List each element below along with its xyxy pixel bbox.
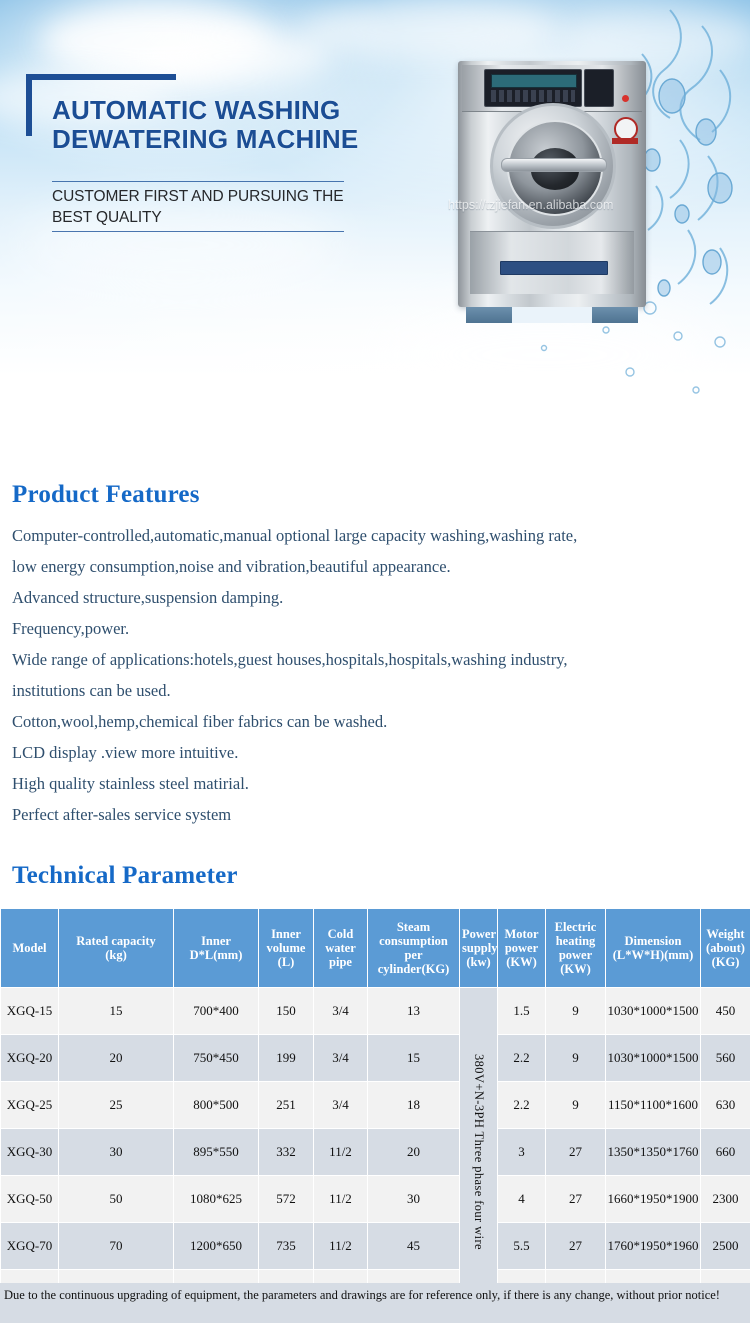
- cell-inner-dl: 1080*625: [174, 1176, 259, 1223]
- cell-inner-volume: 251: [259, 1082, 314, 1129]
- feature-line: LCD display .view more intuitive.: [12, 737, 712, 768]
- cell-dimension: 1760*1950*1960: [606, 1223, 701, 1270]
- cell-weight: 2500: [701, 1223, 750, 1270]
- cell-weight: 660: [701, 1129, 750, 1176]
- product-features-list: Computer-controlled,automatic,manual opt…: [12, 520, 712, 830]
- machine-brand-badge-text: [612, 138, 638, 144]
- cell-weight: 450: [701, 988, 750, 1035]
- cell-motor-power: 2.2: [498, 1082, 546, 1129]
- technical-parameter-table-wrapper: ModelRated capacity (kg)Inner D*L(mm)Inn…: [0, 908, 750, 1317]
- corner-bracket-extension: [98, 74, 176, 80]
- cloud-shape: [300, 0, 560, 60]
- cell-motor-power: 5.5: [498, 1223, 546, 1270]
- cell-dimension: 1350*1350*1760: [606, 1129, 701, 1176]
- hero-banner: AUTOMATIC WASHING DEWATERING MACHINE CUS…: [0, 0, 750, 470]
- cell-steam-consumption: 30: [368, 1176, 460, 1223]
- cell-steam-consumption: 13: [368, 988, 460, 1035]
- feature-line: Wide range of applications:hotels,guest …: [12, 644, 712, 675]
- table-column-header: Cold water pipe: [314, 909, 368, 988]
- cell-dimension: 1660*1950*1900: [606, 1176, 701, 1223]
- cell-inner-dl: 1200*650: [174, 1223, 259, 1270]
- cell-cold-water-pipe: 11/2: [314, 1223, 368, 1270]
- cloud-shape: [150, 30, 330, 82]
- machine-nameplate: [500, 261, 608, 275]
- cell-model: XGQ-15: [1, 988, 59, 1035]
- cell-weight: 2300: [701, 1176, 750, 1223]
- cell-cold-water-pipe: 3/4: [314, 988, 368, 1035]
- table-disclaimer-note: Due to the continuous upgrading of equip…: [0, 1283, 750, 1323]
- banner-subtitle: CUSTOMER FIRST AND PURSUING THE BEST QUA…: [52, 186, 372, 228]
- cell-weight: 560: [701, 1035, 750, 1082]
- cell-steam-consumption: 20: [368, 1129, 460, 1176]
- product-features-heading: Product Features: [12, 481, 200, 509]
- cell-electric-heating-power: 27: [546, 1223, 606, 1270]
- cell-cold-water-pipe: 3/4: [314, 1035, 368, 1082]
- table-row: XGQ-70701200*65073511/2455.5271760*1950*…: [1, 1223, 750, 1270]
- cell-electric-heating-power: 9: [546, 1035, 606, 1082]
- machine-keypad: [491, 90, 575, 102]
- table-column-header: Motor power (KW): [498, 909, 546, 988]
- table-column-header: Rated capacity (kg): [59, 909, 174, 988]
- table-row: XGQ-3030895*55033211/2203271350*1350*176…: [1, 1129, 750, 1176]
- machine-side-panel: [584, 69, 614, 107]
- cell-model: XGQ-20: [1, 1035, 59, 1082]
- banner-divider-top: [52, 181, 344, 182]
- image-watermark: https://tzjiefan.en.alibaba.com: [448, 198, 718, 212]
- table-column-header: Steam consumption per cylinder(KG): [368, 909, 460, 988]
- feature-line: Advanced structure,suspension damping.: [12, 582, 712, 613]
- cell-electric-heating-power: 9: [546, 988, 606, 1035]
- cell-model: XGQ-25: [1, 1082, 59, 1129]
- feature-line: low energy consumption,noise and vibrati…: [12, 551, 712, 582]
- washing-machine-product-image: [452, 55, 652, 330]
- table-row: XGQ-2525800*5002513/4182.291150*1100*160…: [1, 1082, 750, 1129]
- cell-inner-volume: 199: [259, 1035, 314, 1082]
- feature-line: Computer-controlled,automatic,manual opt…: [12, 520, 712, 551]
- cell-rated-capacity: 20: [59, 1035, 174, 1082]
- cell-motor-power: 4: [498, 1176, 546, 1223]
- cell-dimension: 1150*1100*1600: [606, 1082, 701, 1129]
- feature-line: Cotton,wool,hemp,chemical fiber fabrics …: [12, 706, 712, 737]
- feature-line: institutions can be used.: [12, 675, 712, 706]
- cell-rated-capacity: 70: [59, 1223, 174, 1270]
- machine-lcd-screen: [491, 74, 577, 88]
- cell-electric-heating-power: 9: [546, 1082, 606, 1129]
- table-row: XGQ-1515700*4001503/413380V+N-3PH Three …: [1, 988, 750, 1035]
- table-column-header: Weight (about) (KG): [701, 909, 750, 988]
- cell-motor-power: 1.5: [498, 988, 546, 1035]
- cell-steam-consumption: 15: [368, 1035, 460, 1082]
- feature-line: Perfect after-sales service system: [12, 799, 712, 830]
- table-row: XGQ-50501080*62557211/2304271660*1950*19…: [1, 1176, 750, 1223]
- cell-motor-power: 2.2: [498, 1035, 546, 1082]
- banner-divider-bottom: [52, 231, 344, 232]
- table-column-header: Model: [1, 909, 59, 988]
- cell-steam-consumption: 45: [368, 1223, 460, 1270]
- cell-dimension: 1030*1000*1500: [606, 1035, 701, 1082]
- cell-inner-volume: 150: [259, 988, 314, 1035]
- cell-inner-volume: 735: [259, 1223, 314, 1270]
- cell-inner-volume: 572: [259, 1176, 314, 1223]
- machine-base-gap: [512, 307, 592, 323]
- cell-rated-capacity: 30: [59, 1129, 174, 1176]
- cell-dimension: 1030*1000*1500: [606, 988, 701, 1035]
- table-body: XGQ-1515700*4001503/413380V+N-3PH Three …: [1, 988, 750, 1317]
- banner-title: AUTOMATIC WASHING DEWATERING MACHINE: [52, 96, 472, 154]
- feature-line: High quality stainless steel matirial.: [12, 768, 712, 799]
- cell-inner-dl: 750*450: [174, 1035, 259, 1082]
- cell-cold-water-pipe: 3/4: [314, 1082, 368, 1129]
- table-header-row: ModelRated capacity (kg)Inner D*L(mm)Inn…: [1, 909, 750, 988]
- table-column-header: Dimension (L*W*H)(mm): [606, 909, 701, 988]
- machine-control-panel: [484, 69, 582, 107]
- cell-inner-dl: 800*500: [174, 1082, 259, 1129]
- feature-line: Frequency,power.: [12, 613, 712, 644]
- table-column-header: Power supply (kw): [460, 909, 498, 988]
- cell-weight: 630: [701, 1082, 750, 1129]
- cell-model: XGQ-70: [1, 1223, 59, 1270]
- machine-power-led: [622, 95, 629, 102]
- cell-steam-consumption: 18: [368, 1082, 460, 1129]
- table-column-header: Electric heating power (KW): [546, 909, 606, 988]
- technical-parameter-heading: Technical Parameter: [12, 862, 238, 890]
- technical-parameter-table: ModelRated capacity (kg)Inner D*L(mm)Inn…: [0, 908, 750, 1317]
- power-supply-rotated-text: 380V+N-3PH Three phase four wire: [471, 1054, 486, 1250]
- cell-inner-dl: 895*550: [174, 1129, 259, 1176]
- cell-cold-water-pipe: 11/2: [314, 1129, 368, 1176]
- table-column-header: Inner volume (L): [259, 909, 314, 988]
- cell-rated-capacity: 25: [59, 1082, 174, 1129]
- cell-electric-heating-power: 27: [546, 1129, 606, 1176]
- machine-door-handle: [501, 158, 607, 172]
- cell-inner-dl: 700*400: [174, 988, 259, 1035]
- cell-model: XGQ-50: [1, 1176, 59, 1223]
- cell-electric-heating-power: 27: [546, 1176, 606, 1223]
- cell-model: XGQ-30: [1, 1129, 59, 1176]
- table-row: XGQ-2020750*4501993/4152.291030*1000*150…: [1, 1035, 750, 1082]
- table-column-header: Inner D*L(mm): [174, 909, 259, 988]
- cell-inner-volume: 332: [259, 1129, 314, 1176]
- cell-rated-capacity: 50: [59, 1176, 174, 1223]
- cell-power-supply-merged: 380V+N-3PH Three phase four wire: [460, 988, 498, 1317]
- cell-rated-capacity: 15: [59, 988, 174, 1035]
- cell-motor-power: 3: [498, 1129, 546, 1176]
- cell-cold-water-pipe: 11/2: [314, 1176, 368, 1223]
